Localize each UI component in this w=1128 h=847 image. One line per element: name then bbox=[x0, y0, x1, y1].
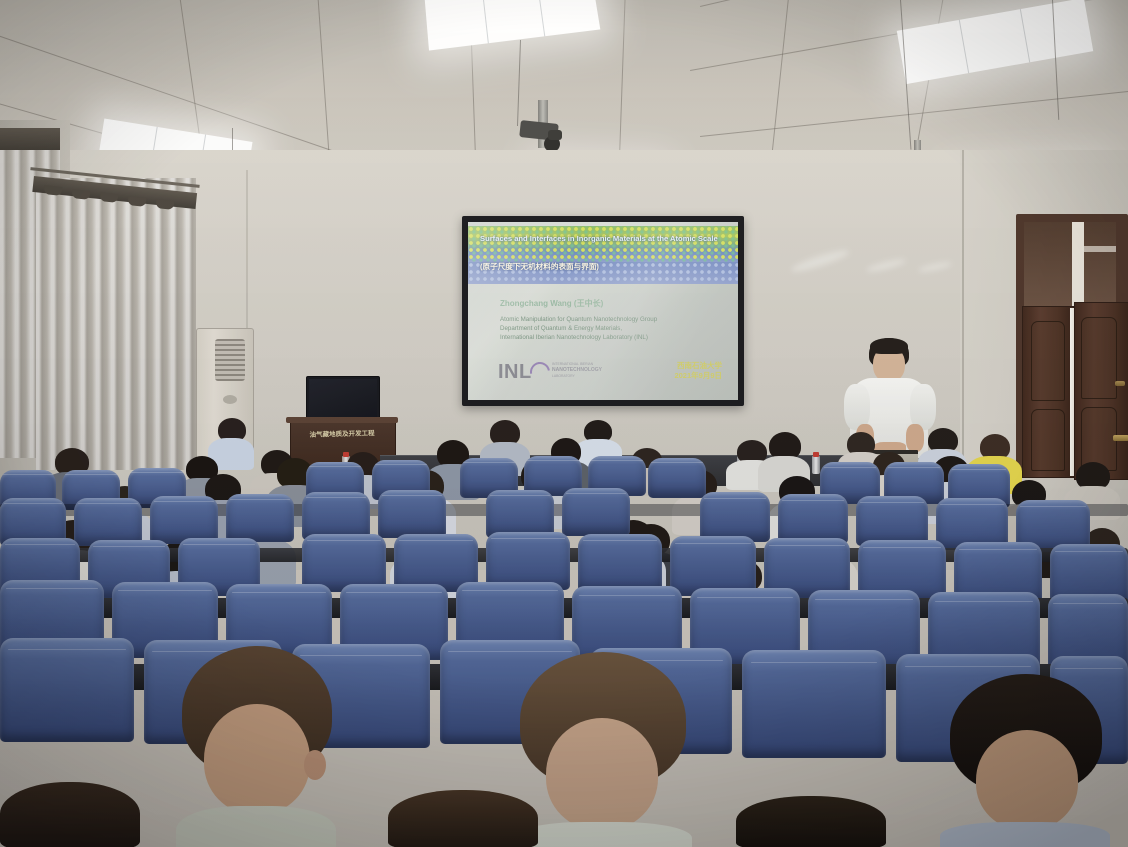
auditorium-seat bbox=[150, 496, 218, 544]
water-bottle bbox=[812, 452, 820, 474]
slide-date: 2021年9月9日 bbox=[644, 371, 722, 381]
curtain-valance-left bbox=[0, 128, 60, 150]
auditorium-seat bbox=[778, 494, 848, 544]
audience-member-foreground bbox=[736, 796, 886, 847]
auditorium-seat bbox=[302, 492, 370, 540]
podium-monitor bbox=[306, 376, 380, 422]
inl-logo-subtitle-3: LABORATORY bbox=[552, 374, 575, 378]
door-handle-icon[interactable] bbox=[1113, 435, 1128, 441]
lecture-hall-photo: Surfaces and Interfaces in Inorganic Mat… bbox=[0, 0, 1128, 847]
slide-affiliation-1: Atomic Manipulation for Quantum Nanotech… bbox=[500, 316, 657, 325]
auditorium-seat bbox=[648, 458, 706, 498]
inl-logo-subtitle-2: NANOTECHNOLOGY bbox=[552, 367, 602, 373]
auditorium-seat bbox=[856, 496, 928, 546]
inl-logo-text: INL bbox=[498, 361, 532, 384]
auditorium-seat bbox=[0, 638, 134, 742]
slide-host-organization: 西南石油大学 bbox=[644, 361, 722, 371]
auditorium-seat bbox=[486, 490, 554, 538]
audience-member-foreground bbox=[0, 782, 140, 847]
inl-logo-subtitle-1: INTERNATIONAL IBERIAN bbox=[552, 362, 593, 366]
window-curtain-main bbox=[36, 178, 196, 470]
ceiling-light-panel bbox=[897, 0, 1093, 84]
auditorium-seat bbox=[226, 494, 294, 542]
slide-speaker-name: Zhongchang Wang (王中长) bbox=[500, 298, 603, 309]
auditorium-seat bbox=[578, 534, 662, 592]
auditorium-seat bbox=[700, 492, 770, 542]
audience-member-foreground bbox=[176, 646, 336, 846]
auditorium-seat bbox=[742, 650, 886, 758]
door-lock-icon bbox=[1115, 381, 1125, 386]
slide-banner-lattice bbox=[468, 226, 738, 262]
ceiling-light-panel bbox=[424, 0, 601, 51]
audience-member-foreground bbox=[512, 652, 692, 847]
auditorium-seat bbox=[74, 498, 142, 546]
slide-title-chinese: (原子尺度下无机材料的表面与界面) bbox=[480, 263, 724, 271]
auditorium-seat bbox=[378, 490, 446, 538]
audience-member-foreground bbox=[388, 790, 538, 847]
slide-title-english: Surfaces and Interfaces in Inorganic Mat… bbox=[480, 235, 724, 244]
auditorium-seat bbox=[562, 488, 630, 536]
audience-member-foreground bbox=[940, 674, 1110, 847]
projected-slide: Surfaces and Interfaces in Inorganic Mat… bbox=[468, 222, 738, 400]
auditorium-seat bbox=[670, 536, 756, 596]
door-transom-window bbox=[1024, 222, 1116, 314]
slide-affiliation-2: Department of Quantum & Energy Materials… bbox=[500, 325, 622, 334]
slide-affiliation-3: International Iberian Nanotechnology Lab… bbox=[500, 334, 648, 343]
